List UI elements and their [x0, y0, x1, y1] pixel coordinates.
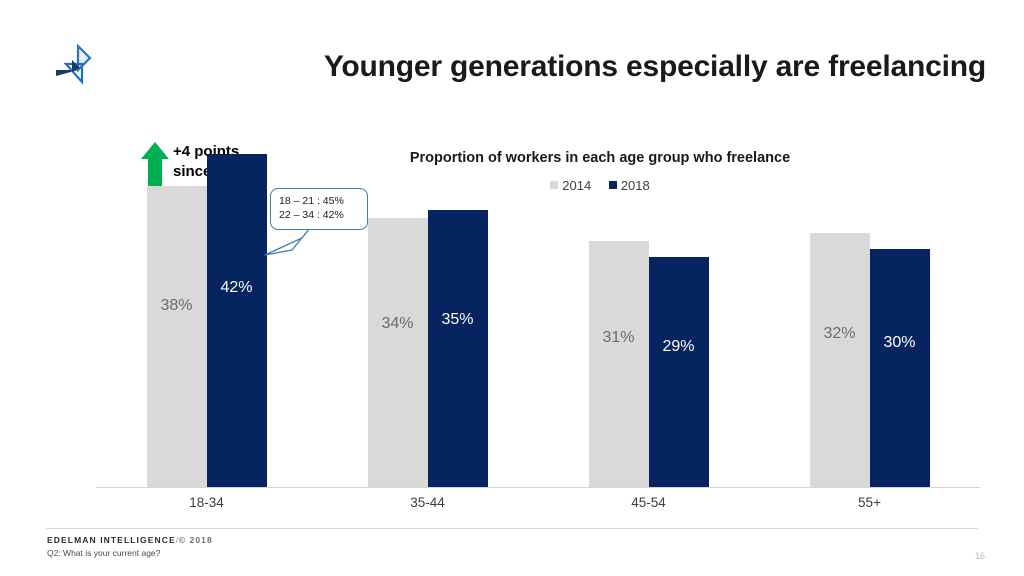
- bar-2018-55+[interactable]: 30%: [870, 249, 930, 488]
- bar-2014-45-54[interactable]: 31%: [589, 241, 649, 488]
- page-number: 16: [975, 551, 985, 561]
- footer-divider: [46, 528, 978, 529]
- bar-value-label: 34%: [368, 316, 428, 332]
- detail-callout-box: 18 – 21 : 45% 22 – 34 : 42%: [270, 188, 368, 230]
- bar-value-label: 38%: [147, 298, 207, 314]
- footer-question: Q2: What is your current age?: [47, 548, 160, 558]
- bar-group: 31%29%: [589, 130, 709, 488]
- page-title: Younger generations especially are freel…: [300, 50, 986, 85]
- bar-2018-35-44[interactable]: 35%: [428, 210, 488, 488]
- x-axis-line: [96, 487, 980, 488]
- edelman-logo: [52, 42, 96, 86]
- bar-value-label: 35%: [428, 312, 488, 328]
- footer-brand: EDELMAN INTELLIGENCE/© 2018: [47, 535, 213, 545]
- bar-value-label: 32%: [810, 326, 870, 342]
- bar-group: 38%42%: [147, 130, 267, 488]
- bar-2018-18-34[interactable]: 42%: [207, 154, 267, 488]
- detail-callout: 18 – 21 : 45% 22 – 34 : 42%: [262, 188, 382, 260]
- footer-brand-name: EDELMAN INTELLIGENCE: [47, 535, 176, 545]
- footer-copyright: © 2018: [179, 535, 213, 545]
- bar-group: 34%35%: [368, 130, 488, 488]
- bar-2014-18-34[interactable]: 38%: [147, 186, 207, 488]
- callout-line-2: 22 – 34 : 42%: [279, 208, 360, 222]
- callout-tail-icon: [262, 226, 322, 258]
- bar-group: 32%30%: [810, 130, 930, 488]
- x-axis-label-55+: 55+: [759, 495, 980, 510]
- bar-value-label: 30%: [870, 335, 930, 351]
- bar-value-label: 29%: [649, 339, 709, 355]
- bar-2018-45-54[interactable]: 29%: [649, 257, 709, 488]
- bar-value-label: 42%: [207, 280, 267, 296]
- bar-2014-55+[interactable]: 32%: [810, 233, 870, 488]
- x-axis-label-45-54: 45-54: [538, 495, 759, 510]
- x-axis-label-35-44: 35-44: [317, 495, 538, 510]
- bar-value-label: 31%: [589, 330, 649, 346]
- callout-line-1: 18 – 21 : 45%: [279, 194, 360, 208]
- chart-plot-area: 38%42%34%35%31%29%32%30%: [96, 130, 980, 488]
- slide-canvas: Younger generations especially are freel…: [0, 0, 1024, 576]
- x-axis-label-18-34: 18-34: [96, 495, 317, 510]
